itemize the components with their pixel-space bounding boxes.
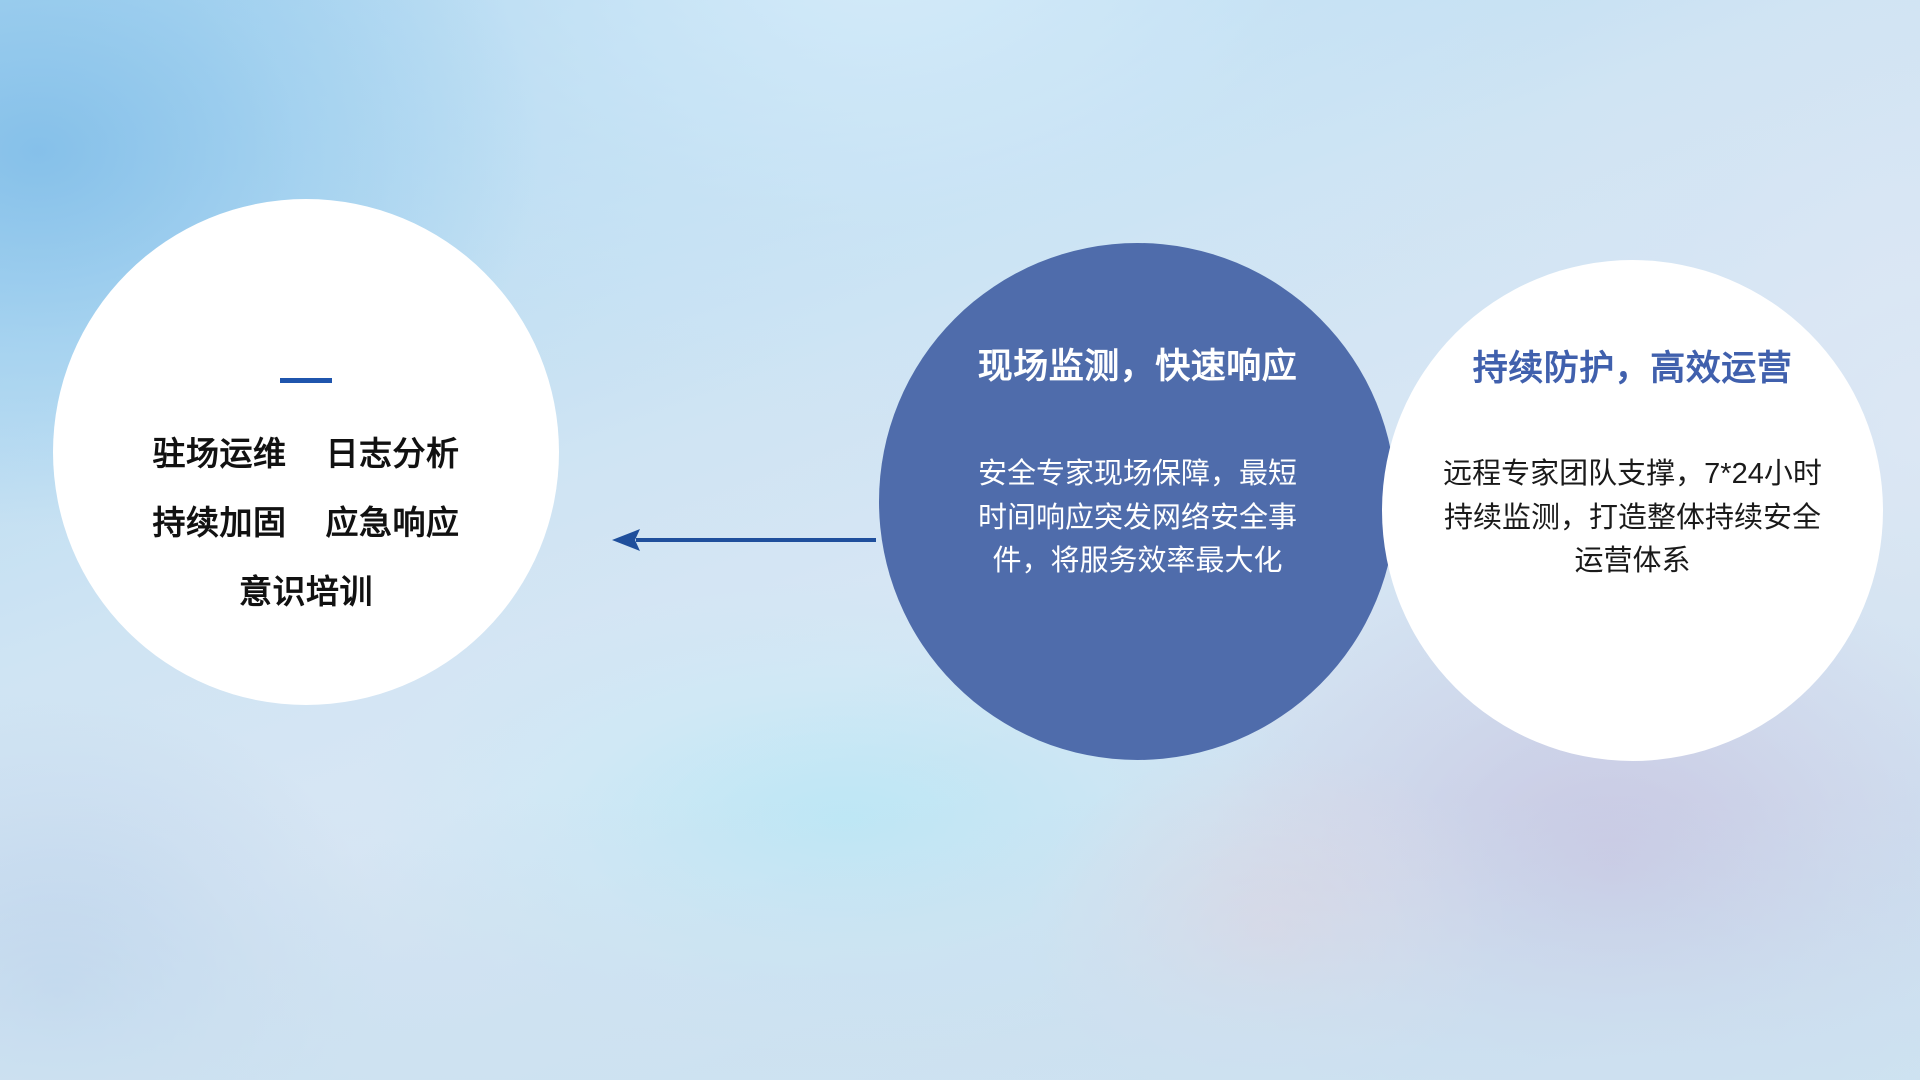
- capability-item: 应急响应: [326, 496, 460, 544]
- service-capability-content: 驻场运维 日志分析 持续加固 应急响应 意识培训: [53, 199, 559, 705]
- continuous-protection-title: 持续防护，高效运营: [1473, 340, 1793, 391]
- leftward-flow-arrow: [608, 526, 878, 554]
- capability-row: 驻场运维 日志分析: [153, 427, 460, 475]
- onsite-monitoring-circle[interactable]: 现场监测，快速响应 安全专家现场保障，最短时间响应突发网络安全事件，将服务效率最…: [879, 243, 1396, 760]
- service-capability-circle[interactable]: 驻场运维 日志分析 持续加固 应急响应 意识培训: [53, 199, 559, 705]
- capability-row: 意识培训: [239, 565, 373, 613]
- continuous-protection-circle[interactable]: 持续防护，高效运营 远程专家团队支撑，7*24小时持续监测，打造整体持续安全运营…: [1382, 260, 1883, 761]
- onsite-monitoring-body: 安全专家现场保障，最短时间响应突发网络安全事件，将服务效率最大化: [973, 453, 1303, 584]
- arrow-head-icon: [612, 529, 640, 551]
- capability-item: 日志分析: [326, 427, 460, 475]
- onsite-monitoring-content: 现场监测，快速响应 安全专家现场保障，最短时间响应突发网络安全事件，将服务效率最…: [879, 243, 1396, 760]
- service-capability-list: 驻场运维 日志分析 持续加固 应急响应 意识培训: [53, 427, 559, 613]
- onsite-monitoring-title: 现场监测，快速响应: [978, 338, 1298, 389]
- capability-item: 意识培训: [239, 565, 373, 613]
- capability-item: 持续加固: [153, 496, 287, 544]
- capability-row: 持续加固 应急响应: [153, 496, 460, 544]
- divider-dash: [280, 378, 332, 383]
- capability-item: 驻场运维: [153, 427, 287, 475]
- continuous-protection-body: 远程专家团队支撑，7*24小时持续监测，打造整体持续安全运营体系: [1433, 453, 1833, 584]
- continuous-protection-content: 持续防护，高效运营 远程专家团队支撑，7*24小时持续监测，打造整体持续安全运营…: [1382, 260, 1883, 761]
- slide-canvas: 现场监测，快速响应 安全专家现场保障，最短时间响应突发网络安全事件，将服务效率最…: [0, 0, 1920, 1080]
